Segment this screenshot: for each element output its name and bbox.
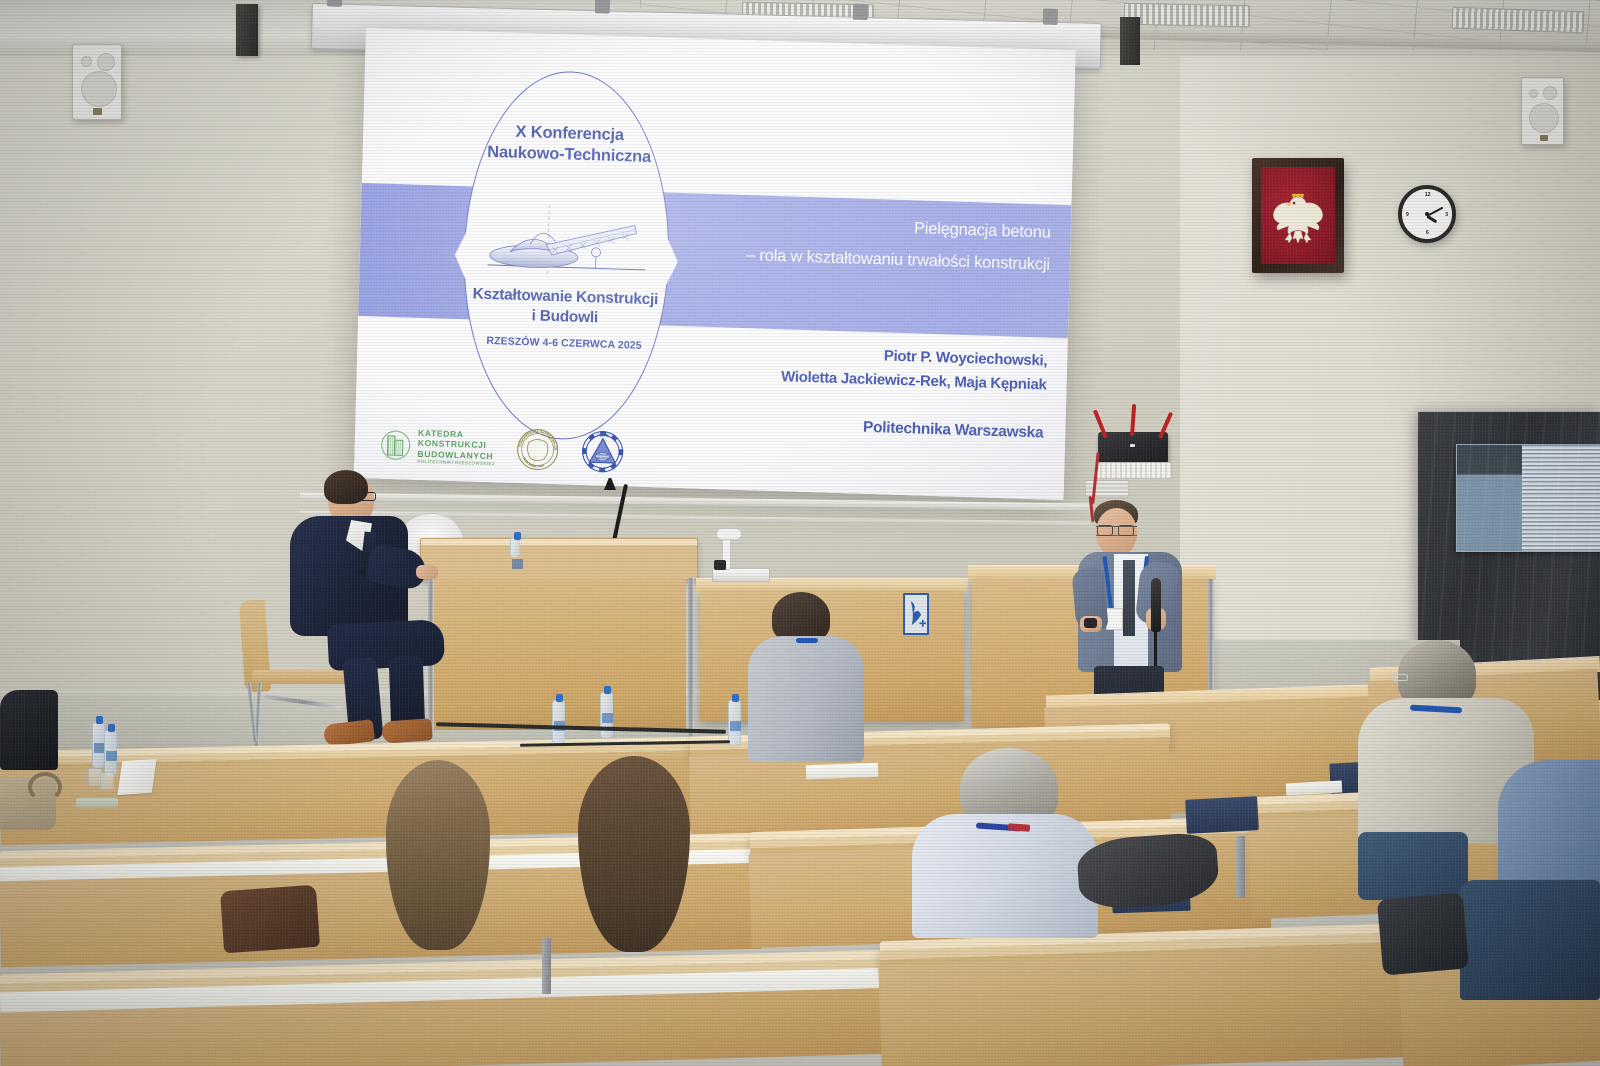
emblem-red-field bbox=[1261, 167, 1335, 264]
audience-member-grey-front bbox=[742, 592, 868, 764]
building-icon bbox=[380, 429, 411, 462]
long-hair-center-hair bbox=[578, 756, 690, 952]
logo-katedra-text: KATEDRA KONSTRUKCJI BUDOWLANYCH POLITECH… bbox=[417, 428, 495, 467]
audience-member-left-edge bbox=[0, 690, 58, 770]
polish-eagle-icon bbox=[1269, 185, 1327, 247]
slide-surface: X Konferencja Naukowo-Techniczna Kształt… bbox=[354, 28, 1076, 500]
speaker-mid bbox=[1529, 89, 1538, 98]
wall-speaker-left bbox=[72, 44, 122, 120]
document-camera-lens-icon bbox=[714, 560, 726, 570]
grey-front-lanyard bbox=[796, 638, 818, 643]
router-wall-mount bbox=[1096, 462, 1172, 479]
speaker-tweeter bbox=[97, 53, 115, 71]
screen-mount-bracket-1 bbox=[327, 0, 342, 7]
audience-member-grey-hair bbox=[912, 748, 1104, 936]
glass-tray bbox=[76, 798, 118, 808]
right-beige-jeans bbox=[1358, 832, 1468, 900]
backpack bbox=[220, 885, 320, 954]
speaker-woofer bbox=[81, 71, 117, 107]
grey-front-hair bbox=[772, 592, 830, 642]
polish-eagle-emblem-frame bbox=[1252, 158, 1344, 273]
name-card bbox=[117, 759, 156, 795]
handbag-strap bbox=[28, 772, 62, 802]
grey-front-jacket bbox=[748, 636, 864, 762]
audience-member-long-hair-left bbox=[352, 760, 520, 980]
wall-speaker-right bbox=[1521, 77, 1564, 145]
projection-screen[interactable]: X Konferencja Naukowo-Techniczna Kształt… bbox=[354, 28, 1076, 500]
clock-minute-hand bbox=[1427, 207, 1444, 217]
audience-member-long-hair-center bbox=[548, 756, 722, 980]
speaker-tweeter bbox=[1543, 86, 1557, 100]
paper-on-desk-1 bbox=[806, 763, 878, 780]
bench-row-d-panel-right bbox=[878, 947, 1422, 1066]
audience-member-far-right-jeans bbox=[1460, 880, 1600, 1000]
moderator-hand bbox=[416, 565, 438, 579]
lectern-top bbox=[420, 538, 698, 580]
presenter-glasses-lens-r bbox=[1118, 525, 1134, 536]
grey-hair-lanyard-accent bbox=[1008, 823, 1030, 832]
slide-title: Pielęgnacja betonu – rola w kształtowani… bbox=[620, 204, 1052, 281]
handheld-microphone bbox=[1151, 578, 1161, 632]
pr-logo-icon bbox=[905, 595, 927, 633]
slide-sponsor-logos: KATEDRA KONSTRUKCJI BUDOWLANYCH POLITECH… bbox=[380, 423, 626, 475]
lectern-leg-right bbox=[688, 578, 694, 736]
water-bottle-stage-left-1 bbox=[552, 700, 565, 746]
logo-theme: Kształtowanie Konstrukcji i Budowli bbox=[460, 284, 670, 331]
seated-moderator bbox=[250, 470, 460, 760]
wifi-router bbox=[1098, 432, 1168, 464]
wall-clock: 12 3 6 9 bbox=[1398, 185, 1456, 243]
water-bottle-stage-center bbox=[728, 700, 741, 746]
poster-image-column bbox=[1457, 445, 1522, 551]
bench-bracket-3 bbox=[1236, 836, 1245, 898]
logo-katedra-konstrukcji-budowlanych: KATEDRA KONSTRUKCJI BUDOWLANYCH POLITECH… bbox=[380, 426, 495, 466]
ceiling-speaker-bracket-right bbox=[1120, 17, 1140, 65]
water-bottle-stage-left-2 bbox=[600, 692, 613, 738]
logo-pzitb-gear: ODDZIAŁ RZESZÓW PZITB bbox=[580, 429, 625, 474]
slide-affiliation: Politechnika Warszawska bbox=[613, 411, 1043, 443]
screen-mount-bracket-4 bbox=[1043, 9, 1058, 25]
screen-mount-bracket-2 bbox=[595, 0, 610, 14]
moderator-shoe-right bbox=[381, 718, 432, 743]
presenter-tie bbox=[1123, 560, 1135, 636]
clock-tick-6: 6 bbox=[1426, 230, 1429, 236]
presenter-glasses-lens-l bbox=[1097, 525, 1113, 536]
speaker-woofer bbox=[1529, 103, 1559, 133]
speaker-mid bbox=[81, 56, 92, 67]
seat-cushion-1 bbox=[1185, 796, 1259, 834]
lecture-hall-scene: X Konferencja Naukowo-Techniczna Kształt… bbox=[0, 0, 1600, 1066]
document-camera-base bbox=[712, 568, 770, 582]
presentation-clicker[interactable] bbox=[1084, 618, 1097, 628]
ceiling-speaker-bracket-left bbox=[236, 4, 258, 56]
svg-text:PZITB: PZITB bbox=[598, 432, 610, 437]
clock-tick-9: 9 bbox=[1406, 212, 1409, 218]
clock-tick-12: 12 bbox=[1425, 192, 1431, 198]
logo-conference-name: X Konferencja Naukowo-Techniczna bbox=[466, 120, 672, 169]
document-camera-head bbox=[716, 528, 742, 540]
politechnika-rzeszowska-sticker bbox=[903, 593, 929, 635]
drinking-glass-2 bbox=[100, 772, 114, 790]
water-bottle-back-left-2 bbox=[104, 730, 117, 776]
ceiling-light-2 bbox=[1124, 3, 1250, 28]
presenter-badge bbox=[1106, 608, 1123, 630]
router-led bbox=[1130, 444, 1135, 447]
long-hair-left-hair bbox=[386, 760, 490, 950]
bag-on-right-desk bbox=[1377, 892, 1469, 975]
moderator-glasses-icon bbox=[354, 492, 376, 501]
chair-leg-rail bbox=[264, 695, 342, 710]
screen-mount-bracket-3 bbox=[853, 4, 868, 20]
poster-text-column bbox=[1522, 445, 1600, 551]
clock-tick-3: 3 bbox=[1445, 212, 1448, 218]
speaker-nameplate bbox=[93, 108, 102, 115]
grey-hair-shirt bbox=[912, 814, 1098, 938]
water-bottle-stage-platform bbox=[510, 538, 520, 558]
chair-seat bbox=[252, 670, 347, 684]
right-beige-glasses-icon bbox=[1392, 674, 1408, 681]
logo-poiib-seal: PODKARPACKA OKRĘGOWA IZBA INŻYNIERÓW BUD… bbox=[517, 428, 560, 471]
conference-poster bbox=[1456, 444, 1600, 552]
ceiling-light-3 bbox=[1452, 7, 1585, 34]
slide-authors: Piotr P. Woyciechowski, Wioletta Jackiew… bbox=[616, 336, 1047, 398]
speaker-nameplate bbox=[1540, 135, 1548, 141]
clock-center-pin bbox=[1425, 212, 1429, 216]
